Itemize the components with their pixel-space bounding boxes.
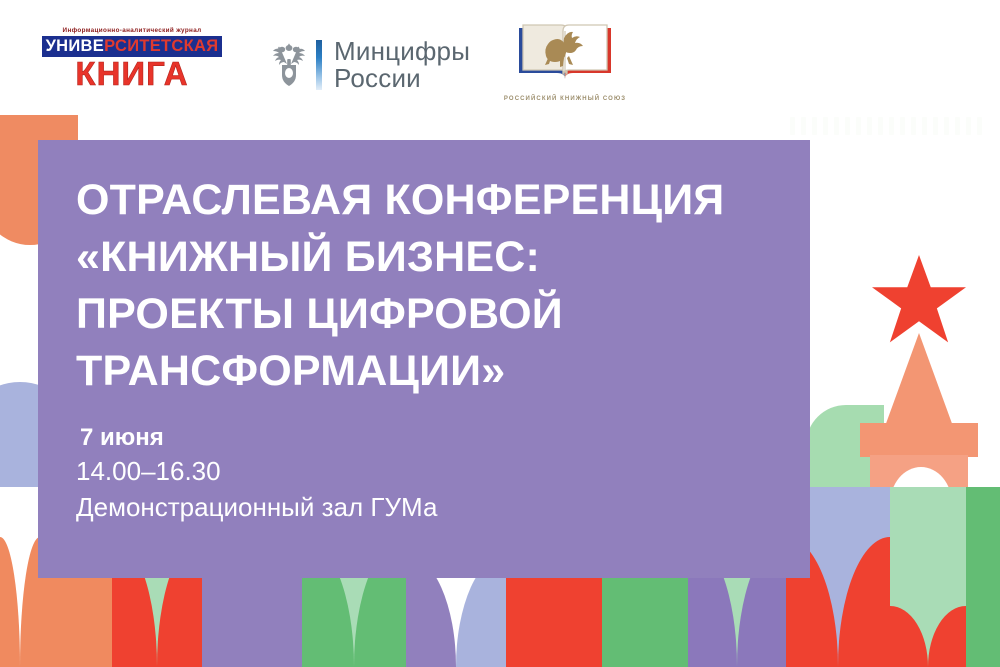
book-column [0, 487, 40, 667]
title-line-2: «КНИЖНЫЙ БИЗНЕС: [76, 229, 776, 286]
title-line-4: ТРАНСФОРМАЦИИ» [76, 343, 776, 400]
mincifry-gradient-bar [316, 40, 322, 90]
logo-universitetskaya-kniga: Информационно-аналитический журнал УНИВЕ… [42, 28, 222, 91]
open-book-griffin-icon [503, 22, 627, 88]
uk-wordmark-part2: РСИТЕТСКАЯ [104, 37, 218, 55]
event-details: 7 июня 14.00–16.30 Демонстрационный зал … [76, 422, 776, 525]
rks-caption: РОССИЙСКИЙ КНИЖНЫЙ СОЮЗ [495, 96, 635, 102]
title-line-3: ПРОЕКТЫ ЦИФРОВОЙ [76, 286, 776, 343]
book-petal-right [928, 606, 966, 667]
mincifry-line1: Минцифры [334, 38, 470, 65]
uk-wordmark-line2: КНИГА [42, 57, 222, 91]
russian-double-headed-eagle-icon [268, 39, 310, 91]
page-title: ОТРАСЛЕВАЯ КОНФЕРЕНЦИЯ «КНИЖНЫЙ БИЗНЕС: … [76, 172, 776, 400]
book-petal-left [890, 606, 928, 667]
event-venue: Демонстрационный зал ГУМа [76, 489, 776, 525]
tower-shoulder [860, 423, 978, 457]
title-line-1: ОТРАСЛЕВАЯ КОНФЕРЕНЦИЯ [76, 172, 776, 229]
book-petal-right [838, 537, 890, 667]
logo-header: Информационно-аналитический журнал УНИВЕ… [0, 0, 1000, 115]
book-column [890, 487, 966, 667]
uk-wordmark-part1: УНИВЕ [46, 37, 104, 55]
logo-rossiyskiy-knizhnyy-soyuz: РОССИЙСКИЙ КНИЖНЫЙ СОЮЗ [495, 22, 635, 102]
logo-mincifry-rossii: Минцифры России [268, 38, 470, 92]
tower-spire [884, 333, 954, 429]
conference-poster: Информационно-аналитический журнал УНИВЕ… [0, 0, 1000, 667]
uk-tagline: Информационно-аналитический журнал [40, 28, 224, 34]
book-column [966, 487, 1000, 667]
mincifry-wordmark: Минцифры России [334, 38, 470, 92]
book-petal-right [20, 537, 40, 667]
info-panel: ОТРАСЛЕВАЯ КОНФЕРЕНЦИЯ «КНИЖНЫЙ БИЗНЕС: … [38, 140, 810, 578]
event-date: 7 июня [80, 422, 776, 453]
event-time: 14.00–16.30 [76, 453, 776, 489]
decorative-dashes [790, 117, 1000, 135]
mincifry-line2: России [334, 65, 470, 92]
uk-wordmark-line1: УНИВЕРСИТЕТСКАЯ [42, 36, 222, 57]
book-petal-left [0, 537, 20, 667]
